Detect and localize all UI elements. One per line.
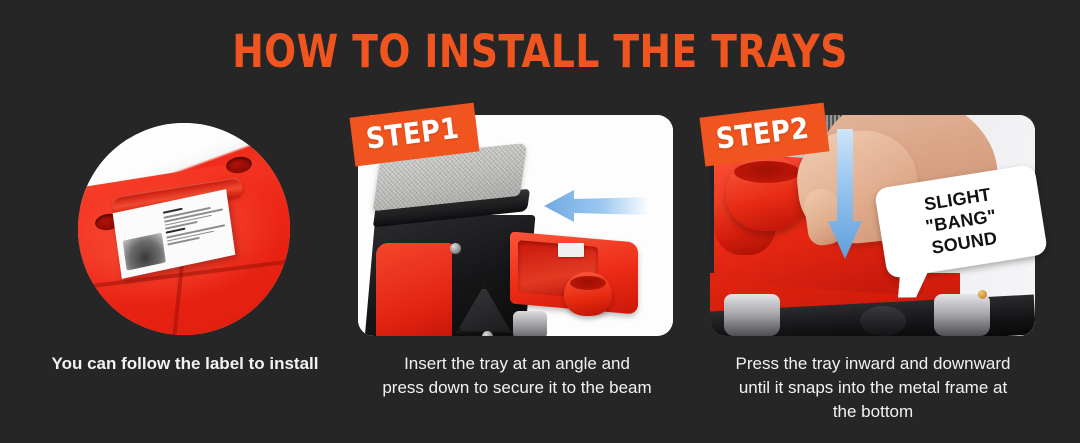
down-arrow-icon xyxy=(828,129,862,259)
screw-icon xyxy=(482,331,493,336)
left-caption-text: You can follow the label to install xyxy=(52,354,319,373)
label-text-lines xyxy=(163,197,229,261)
label-product-image xyxy=(123,233,166,271)
screw-icon xyxy=(978,290,987,299)
step2-caption: Press the tray inward and downward until… xyxy=(706,352,1040,424)
circular-tray-photo xyxy=(78,123,290,335)
tray-sticker xyxy=(558,243,584,257)
caster-wheel xyxy=(934,294,990,336)
step2-caption-line2: until it snaps into the metal frame at xyxy=(739,378,1007,397)
tray-cup-holder xyxy=(726,155,808,231)
step1-caption-line2: press down to secure it to the beam xyxy=(382,378,651,397)
step1-caption: Insert the tray at an angle and press do… xyxy=(358,352,676,400)
left-arrow-icon xyxy=(544,189,650,223)
step2-caption-line1: Press the tray inward and downward xyxy=(736,354,1011,373)
caster-wheel xyxy=(724,294,780,336)
step2-caption-line3: the bottom xyxy=(833,402,913,421)
bubble-tail xyxy=(898,271,928,298)
left-caption: You can follow the label to install xyxy=(20,352,350,376)
screw-icon xyxy=(450,243,461,254)
infographic-root: HOW TO INSTALL THE TRAYS You can follow … xyxy=(0,0,1080,443)
red-body-panel xyxy=(376,243,452,336)
caster-wheel xyxy=(513,311,547,336)
caster-wheel xyxy=(860,306,906,336)
page-title: HOW TO INSTALL THE TRAYS xyxy=(38,28,1042,76)
step1-caption-line1: Insert the tray at an angle and xyxy=(404,354,630,373)
tray-cup-holder xyxy=(564,272,612,316)
